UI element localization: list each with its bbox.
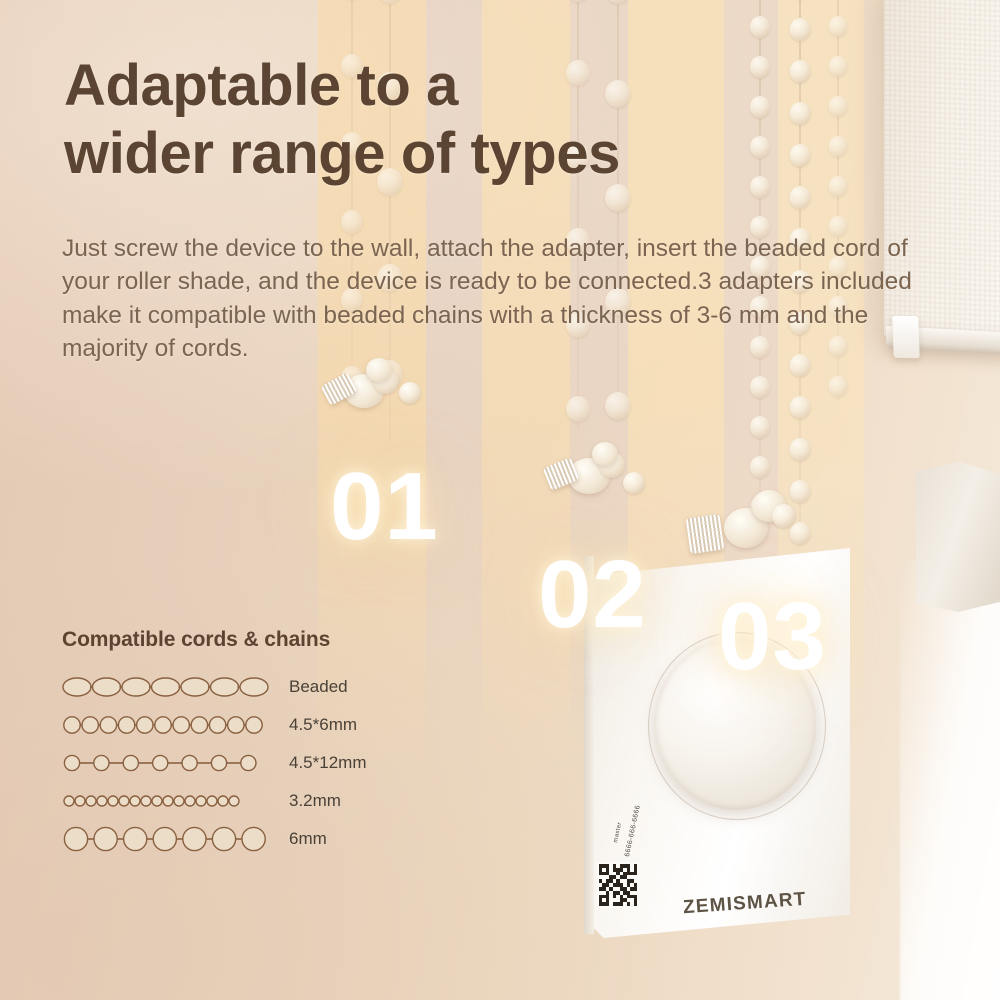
chain-bead xyxy=(790,144,811,167)
chain-bead xyxy=(790,18,811,41)
step-02-label: 02 xyxy=(538,541,647,648)
product-marketing-image: 6666-666-6666 master ZEMISMART 01 02 03 … xyxy=(0,0,1000,1000)
step-number-03: 03 xyxy=(718,582,827,692)
chain-bead xyxy=(605,0,631,4)
chain-bead xyxy=(829,96,848,117)
chain-bead xyxy=(829,176,848,197)
chain-bead xyxy=(750,376,770,398)
legend-row-label: 3.2mm xyxy=(277,791,341,811)
step-03-label: 03 xyxy=(718,583,827,690)
chain-bead xyxy=(790,102,811,125)
legend-row: 4.5*6mm xyxy=(62,706,462,744)
chain-bead xyxy=(790,438,811,461)
body-description: Just screw the device to the wall, attac… xyxy=(62,232,927,365)
legend-row-label: 6mm xyxy=(277,829,327,849)
chain-bead xyxy=(605,392,631,420)
legend-row: Beaded xyxy=(62,668,462,706)
legend-row-label: Beaded xyxy=(277,677,348,697)
chain-diagram-oval-link-icon xyxy=(62,668,277,706)
chain-bead xyxy=(790,186,811,209)
legend-row: 6mm xyxy=(62,820,462,858)
chain-bead xyxy=(377,0,403,4)
legend-title: Compatible cords & chains xyxy=(62,628,462,652)
legend-row-label: 4.5*12mm xyxy=(277,753,366,773)
step-number-02: 02 xyxy=(538,540,647,650)
chain-bead xyxy=(566,0,590,2)
step-number-01: 01 xyxy=(330,452,439,562)
chain-bead xyxy=(829,16,848,37)
chain-bead xyxy=(790,396,811,419)
chain-bead xyxy=(750,456,770,478)
chain-bead xyxy=(750,416,770,438)
headline-line-2: wider range of types xyxy=(64,120,764,188)
legend-row: 3.2mm xyxy=(62,782,462,820)
legend-row-label: 4.5*6mm xyxy=(277,715,357,735)
qr-cell xyxy=(634,902,637,906)
chain-diagram-round-spaced-icon xyxy=(62,744,277,782)
chain-bead xyxy=(829,376,848,397)
device-qr-code xyxy=(597,862,639,908)
headline-line-1: Adaptable to a xyxy=(64,52,764,120)
chain-diagram-micro-round-icon xyxy=(62,782,277,820)
page-title: Adaptable to a wider range of types xyxy=(64,52,764,189)
chain-bead xyxy=(566,396,590,422)
chain-bead xyxy=(790,60,811,83)
chain-bead xyxy=(750,16,770,38)
chain-diagram-large-round-icon xyxy=(62,820,277,858)
chain-bead xyxy=(829,56,848,77)
step-01-label: 01 xyxy=(330,453,439,560)
chain-diagram-round-tight-icon xyxy=(62,706,277,744)
chain-bead xyxy=(341,210,363,234)
adapter-piece-02 xyxy=(538,438,658,518)
chain-bead xyxy=(829,136,848,157)
legend-row: 4.5*12mm xyxy=(62,744,462,782)
compatible-cords-legend: Compatible cords & chains Beaded4.5*6mm4… xyxy=(62,628,462,858)
